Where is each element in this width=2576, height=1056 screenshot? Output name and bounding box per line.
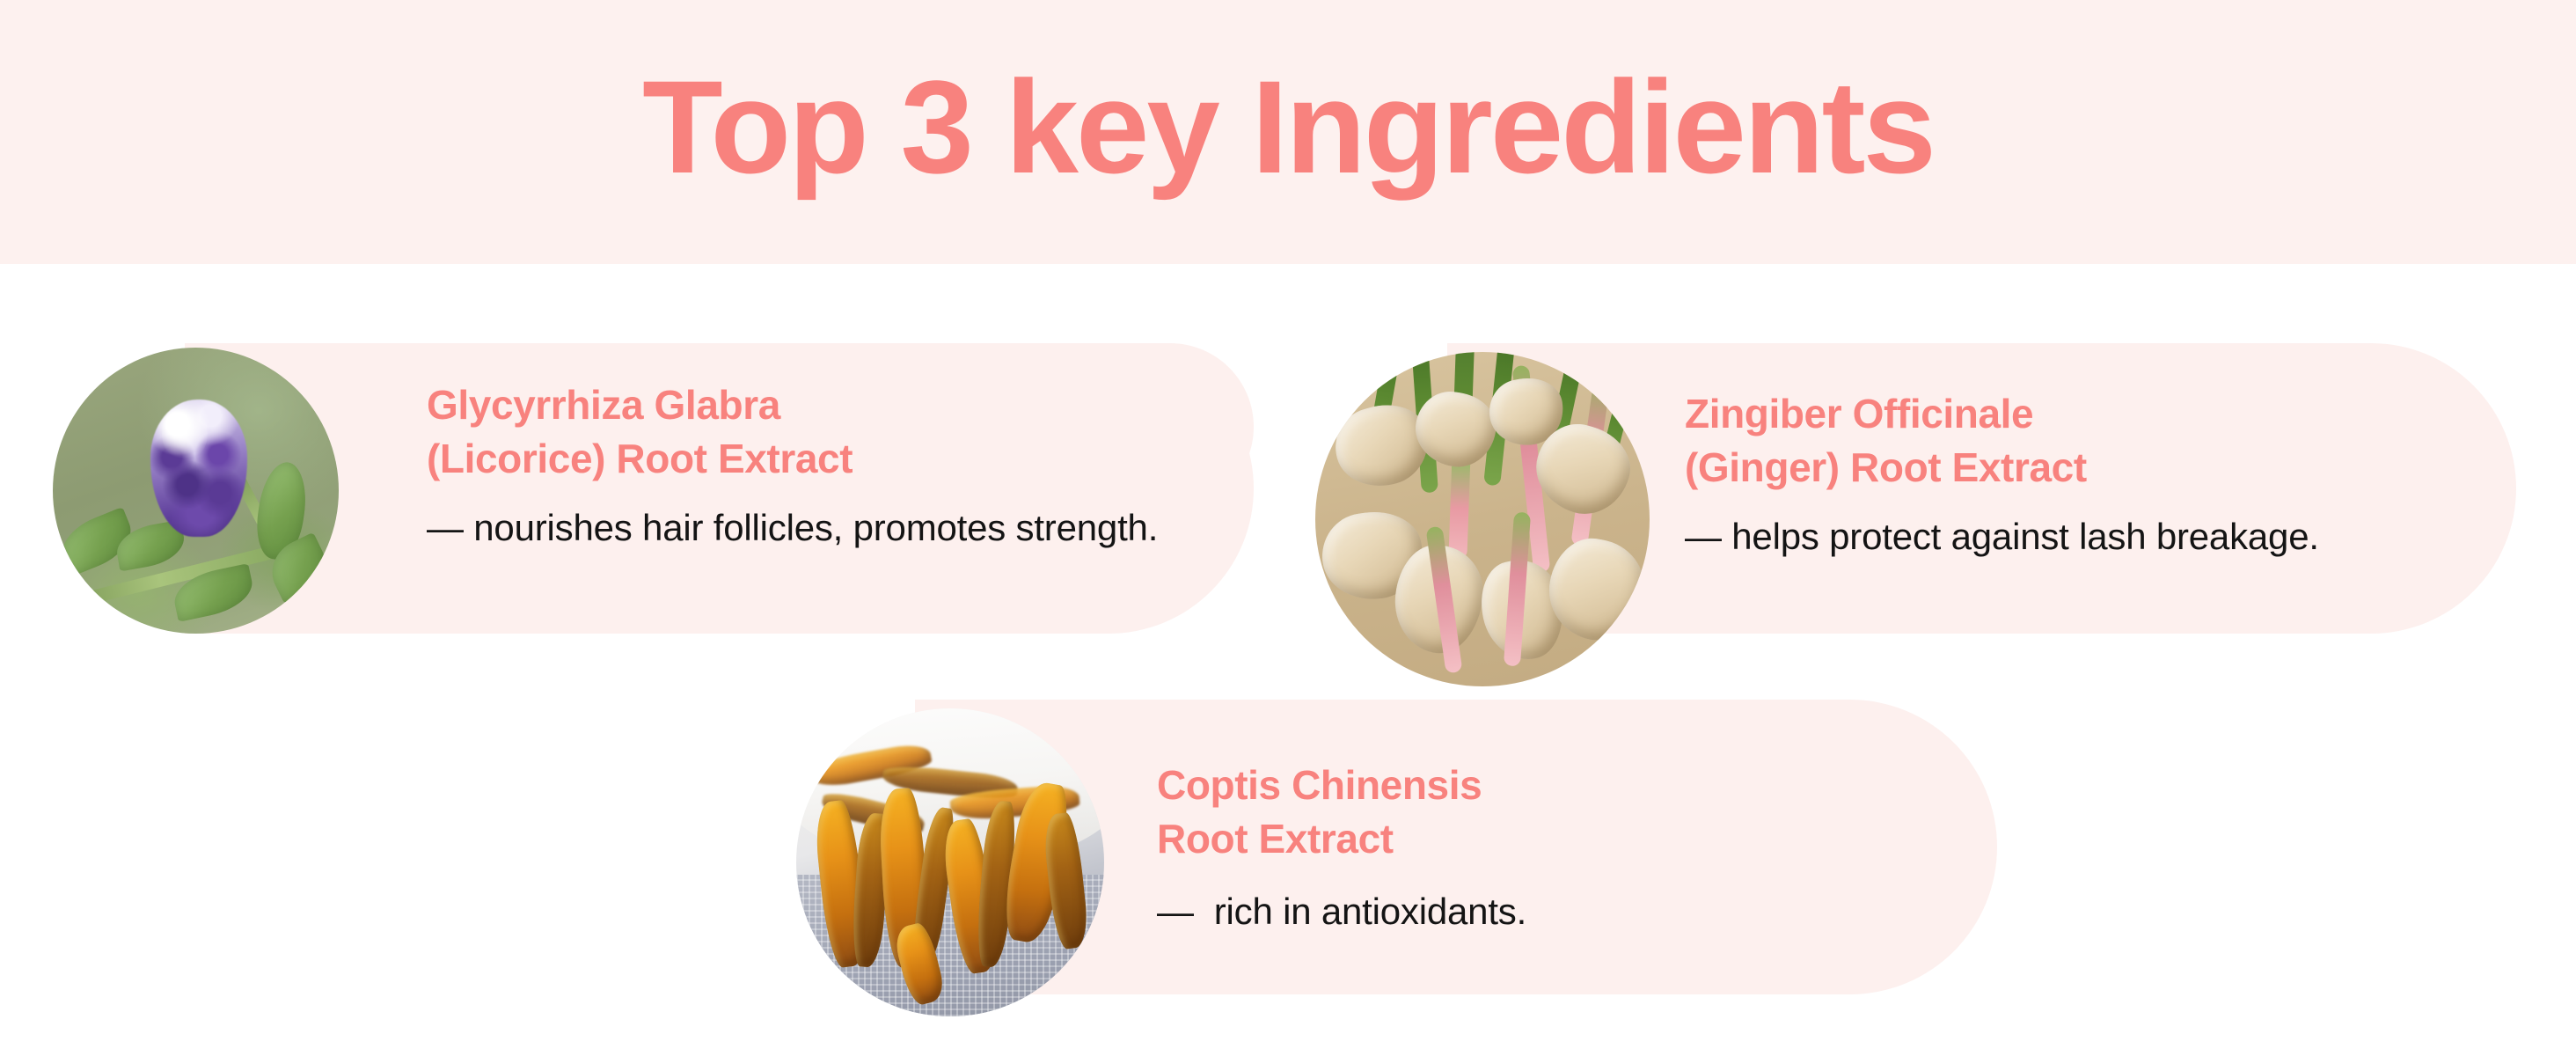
licorice-description: — nourishes hair follicles, promotes str…: [427, 504, 1218, 553]
coptis-photo-roots: [796, 708, 1104, 1016]
ginger-title: Zingiber Officinale (Ginger) Root Extrac…: [1685, 387, 2477, 494]
licorice-plant-photo: [53, 348, 339, 634]
header-band: Top 3 key Ingredients: [0, 0, 2576, 264]
ginger-photo-contents: [1315, 352, 1650, 686]
page-title: Top 3 key Ingredients: [642, 61, 1934, 193]
coptis-root-photo: [796, 708, 1104, 1016]
licorice-card-text: Glycyrrhiza Glabra (Licorice) Root Extra…: [427, 378, 1218, 553]
coptis-title: Coptis Chinensis Root Extract: [1157, 759, 1949, 865]
licorice-flower-highlight: [162, 405, 208, 462]
ginger-description: — helps protect against lash breakage.: [1685, 513, 2477, 561]
coptis-description: — rich in antioxidants.: [1157, 888, 1949, 936]
ginger-card-text: Zingiber Officinale (Ginger) Root Extrac…: [1685, 387, 2477, 561]
licorice-title: Glycyrrhiza Glabra (Licorice) Root Extra…: [427, 378, 1218, 485]
ginger-root-photo: [1315, 352, 1650, 686]
coptis-card-text: Coptis Chinensis Root Extract — rich in …: [1157, 759, 1949, 936]
